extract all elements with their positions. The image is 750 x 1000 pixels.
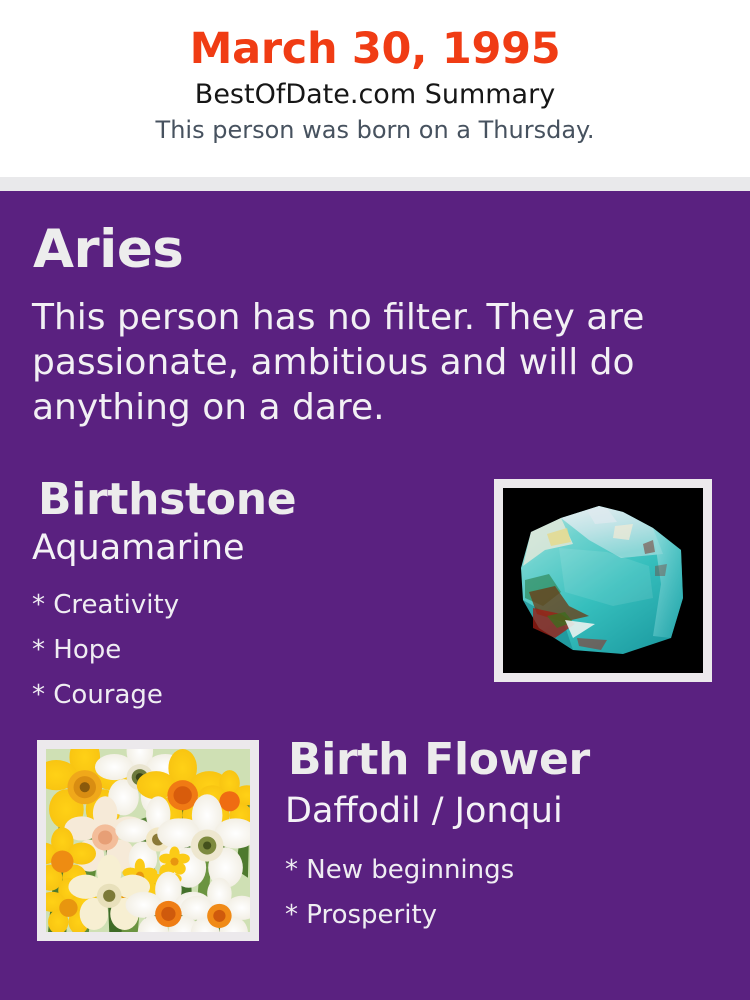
weekday-note: This person was born on a Thursday. xyxy=(0,109,750,143)
list-item: * Prosperity xyxy=(285,893,514,938)
birthstone-name: Aquamarine xyxy=(32,531,245,566)
header-panel: March 30, 1995 BestOfDate.com Summary Th… xyxy=(0,0,750,177)
list-item: * Hope xyxy=(32,628,179,673)
site-name-subtitle: BestOfDate.com Summary xyxy=(0,72,750,109)
daffodil-flowers-photo xyxy=(46,749,250,932)
birthstone-image-frame xyxy=(494,479,712,682)
summary-card: March 30, 1995 BestOfDate.com Summary Th… xyxy=(0,0,750,1000)
header-divider xyxy=(0,177,750,191)
list-item: * Creativity xyxy=(32,583,179,628)
list-item: * New beginnings xyxy=(285,848,514,893)
birthflower-heading: Birth Flower xyxy=(288,738,590,782)
birthflower-image-frame xyxy=(37,740,259,941)
zodiac-description: This person has no filter. They are pass… xyxy=(32,295,657,430)
birthstone-heading: Birthstone xyxy=(38,478,296,522)
birthstone-trait-list: * Creativity * Hope * Courage xyxy=(32,583,179,718)
birthflower-trait-list: * New beginnings * Prosperity xyxy=(285,848,514,938)
birthflower-name: Daffodil / Jonqui xyxy=(285,794,563,829)
zodiac-sign-title: Aries xyxy=(33,223,183,276)
page-title-date: March 30, 1995 xyxy=(0,0,750,72)
aquamarine-crystal-photo xyxy=(503,488,703,673)
list-item: * Courage xyxy=(32,673,179,718)
